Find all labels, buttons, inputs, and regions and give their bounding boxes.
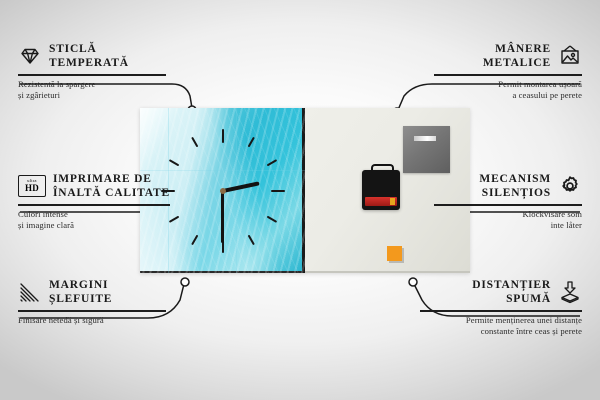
leader-dot-polished-edges	[181, 278, 189, 286]
callout-subtitle: Finisare netedă și sigură	[18, 315, 166, 326]
callout-rule	[420, 310, 582, 312]
callout-head: DISTANȚIERSPUMĂ	[420, 278, 582, 306]
callout-polished-edges: MARGINIȘLEFUITE Finisare netedă și sigur…	[18, 278, 166, 326]
callout-rule	[18, 310, 166, 312]
mechanism-bail	[371, 164, 394, 174]
callout-subtitle: Klockvisare sominte låter	[434, 209, 582, 232]
callout-subtitle: Permit montarea ușoarăa ceasului pe pere…	[434, 79, 582, 102]
callout-head: MECANISMSILENȚIOS	[434, 172, 582, 200]
callout-tempered-glass: STICLĂTEMPERATĂ Rezistentă la spargereși…	[18, 42, 166, 101]
callout-title: STICLĂTEMPERATĂ	[49, 42, 129, 70]
hatch-lines-icon	[18, 280, 42, 304]
callout-title: MÂNEREMETALICE	[483, 42, 551, 70]
gear-icon	[558, 174, 582, 198]
callout-title: DISTANȚIERSPUMĂ	[472, 278, 551, 306]
callout-rule	[434, 204, 582, 206]
callout-foam-spacer: DISTANȚIERSPUMĂ Permite menținerea unei …	[420, 278, 582, 337]
callout-title: MARGINIȘLEFUITE	[49, 278, 112, 306]
metal-hanger-part	[403, 126, 450, 173]
callout-head: MÂNEREMETALICE	[434, 42, 582, 70]
diamond-icon	[18, 44, 42, 68]
clock-tick	[222, 129, 224, 191]
clock-face-panel	[140, 108, 305, 273]
clock-dial	[140, 108, 305, 273]
arrow-down-pad-icon	[558, 280, 582, 304]
clock-tick	[161, 190, 223, 192]
picture-frame-hanger-icon	[558, 44, 582, 68]
ultra-hd-icon: ultraHD	[18, 175, 46, 197]
clock-center-cap	[220, 188, 226, 194]
leader-dot-foam-spacer	[409, 278, 417, 286]
callout-metal-handles: MÂNEREMETALICE Permit montarea ușoarăa c…	[434, 42, 582, 101]
foam-spacer-part	[387, 246, 402, 261]
callout-subtitle: Rezistentă la spargereși zgârieturi	[18, 79, 166, 102]
clock-minute-hand	[221, 191, 224, 243]
clock-mechanism-part	[362, 170, 400, 210]
product-image	[140, 108, 470, 273]
callout-silent-mechanism: MECANISMSILENȚIOS Klockvisare sominte lå…	[434, 172, 582, 231]
callout-head: MARGINIȘLEFUITE	[18, 278, 166, 306]
callout-rule	[18, 74, 166, 76]
callout-head: STICLĂTEMPERATĂ	[18, 42, 166, 70]
battery-part	[365, 197, 397, 206]
infographic-canvas: STICLĂTEMPERATĂ Rezistentă la spargereși…	[0, 0, 600, 400]
callout-subtitle: Permite menținerea unei distanțeconstant…	[420, 315, 582, 338]
callout-rule	[434, 74, 582, 76]
callout-title: MECANISMSILENȚIOS	[479, 172, 551, 200]
